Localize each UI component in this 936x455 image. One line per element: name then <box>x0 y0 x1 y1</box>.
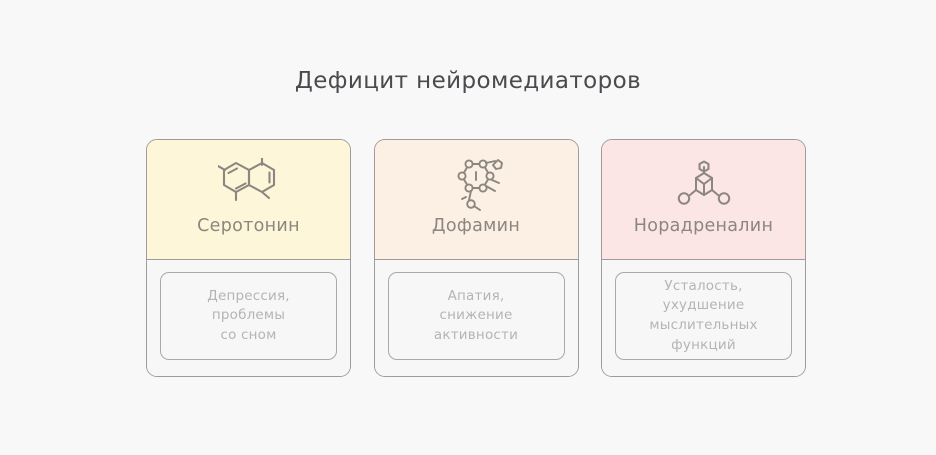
dopamine-molecule-icon <box>443 157 509 215</box>
serotonin-molecule-icon <box>216 157 282 215</box>
card-dopamine-description: Апатия, снижение активности <box>434 287 518 346</box>
card-dopamine-header: Дофамин <box>375 140 578 260</box>
card-serotonin-description-box: Депрессия, проблемы со сном <box>160 272 337 360</box>
card-serotonin-description: Депрессия, проблемы со сном <box>207 287 290 346</box>
card-serotonin-header: Серотонин <box>147 140 350 260</box>
card-norepinephrine-header: Норадреналин <box>602 140 805 260</box>
card-serotonin[interactable]: Серотонин Депрессия, проблемы со сном <box>146 139 351 377</box>
card-dopamine-body: Апатия, снижение активности <box>375 260 578 376</box>
card-dopamine[interactable]: Дофамин Апатия, снижение активности <box>374 139 579 377</box>
card-norepinephrine-description-box: Усталость, ухудшение мыслительных функци… <box>615 272 792 360</box>
card-norepinephrine-body: Усталость, ухудшение мыслительных функци… <box>602 260 805 376</box>
neurotransmitter-cards-row: Серотонин Депрессия, проблемы со сном <box>146 139 806 379</box>
card-norepinephrine-label: Норадреналин <box>634 218 773 236</box>
card-dopamine-label: Дофамин <box>432 218 520 236</box>
norepinephrine-molecule-icon <box>671 157 737 215</box>
card-norepinephrine-description: Усталость, ухудшение мыслительных функци… <box>649 277 757 355</box>
card-serotonin-label: Серотонин <box>197 218 300 236</box>
page-title: Дефицит нейромедиаторов <box>0 68 936 94</box>
card-norepinephrine[interactable]: Норадреналин Усталость, ухудшение мыслит… <box>601 139 806 377</box>
card-dopamine-description-box: Апатия, снижение активности <box>388 272 565 360</box>
card-serotonin-body: Депрессия, проблемы со сном <box>147 260 350 376</box>
